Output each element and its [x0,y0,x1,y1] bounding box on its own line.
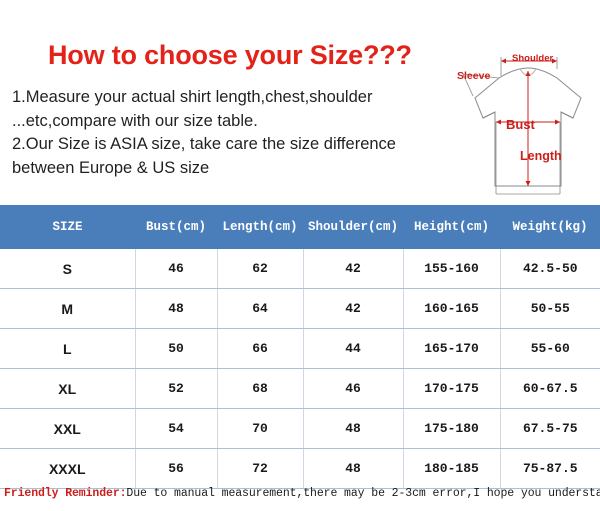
cell-bust: 48 [135,289,217,329]
size-chart-table: SIZE Bust(cm) Length(cm) Shoulder(cm) He… [0,205,600,489]
cell-weight: 55-60 [500,329,600,369]
cell-height: 155-160 [403,249,500,289]
cell-size: XXXL [0,449,135,489]
cell-size: XXL [0,409,135,449]
cell-bust: 56 [135,449,217,489]
cell-bust: 52 [135,369,217,409]
cell-shoulder: 44 [303,329,403,369]
t-shirt-measurement-diagram: Shoulder Sleeve Bust Length [455,26,600,202]
instructions-block: 1.Measure your actual shirt length,chest… [12,86,464,180]
table-row: XL526846170-17560-67.5 [0,369,600,409]
table-header-row: SIZE Bust(cm) Length(cm) Shoulder(cm) He… [0,205,600,249]
diagram-label-shoulder: Shoulder [512,53,553,64]
diagram-label-sleeve: Sleeve [457,70,490,82]
table-row: M486442160-16550-55 [0,289,600,329]
diagram-label-bust: Bust [506,117,535,132]
cell-bust: 46 [135,249,217,289]
cell-shoulder: 46 [303,369,403,409]
table-row: S466242155-16042.5-50 [0,249,600,289]
cell-length: 62 [217,249,303,289]
cell-length: 64 [217,289,303,329]
page-title: How to choose your Size??? [48,40,412,71]
cell-size: L [0,329,135,369]
cell-height: 165-170 [403,329,500,369]
cell-height: 175-180 [403,409,500,449]
diagram-label-length: Length [520,149,562,163]
column-header-length: Length(cm) [217,205,303,249]
column-header-height: Height(cm) [403,205,500,249]
instruction-line-4: between Europe & US size [12,157,464,181]
cell-length: 68 [217,369,303,409]
cell-shoulder: 48 [303,409,403,449]
cell-size: XL [0,369,135,409]
cell-shoulder: 42 [303,249,403,289]
cell-length: 72 [217,449,303,489]
instruction-line-3: 2.Our Size is ASIA size, take care the s… [12,133,464,157]
cell-size: M [0,289,135,329]
table-row: L506644165-17055-60 [0,329,600,369]
cell-weight: 60-67.5 [500,369,600,409]
instruction-line-1: 1.Measure your actual shirt length,chest… [12,86,464,110]
friendly-reminder: Friendly Reminder:Due to manual measurem… [4,487,600,500]
reminder-text: Due to manual measurement,there may be 2… [126,487,600,500]
column-header-shoulder: Shoulder(cm) [303,205,403,249]
cell-length: 66 [217,329,303,369]
cell-bust: 50 [135,329,217,369]
cell-height: 160-165 [403,289,500,329]
cell-shoulder: 48 [303,449,403,489]
cell-weight: 75-87.5 [500,449,600,489]
cell-height: 180-185 [403,449,500,489]
header-section: How to choose your Size??? 1.Measure you… [0,0,600,205]
cell-height: 170-175 [403,369,500,409]
column-header-bust: Bust(cm) [135,205,217,249]
column-header-size: SIZE [0,205,135,249]
cell-length: 70 [217,409,303,449]
column-header-weight: Weight(kg) [500,205,600,249]
table-row: XXL547048175-18067.5-75 [0,409,600,449]
cell-bust: 54 [135,409,217,449]
cell-weight: 50-55 [500,289,600,329]
cell-size: S [0,249,135,289]
instruction-line-2: ...etc,compare with our size table. [12,110,464,134]
cell-weight: 67.5-75 [500,409,600,449]
table-body: S466242155-16042.5-50M486442160-16550-55… [0,249,600,489]
table-row: XXXL567248180-18575-87.5 [0,449,600,489]
cell-shoulder: 42 [303,289,403,329]
cell-weight: 42.5-50 [500,249,600,289]
reminder-label: Friendly Reminder: [4,487,126,500]
